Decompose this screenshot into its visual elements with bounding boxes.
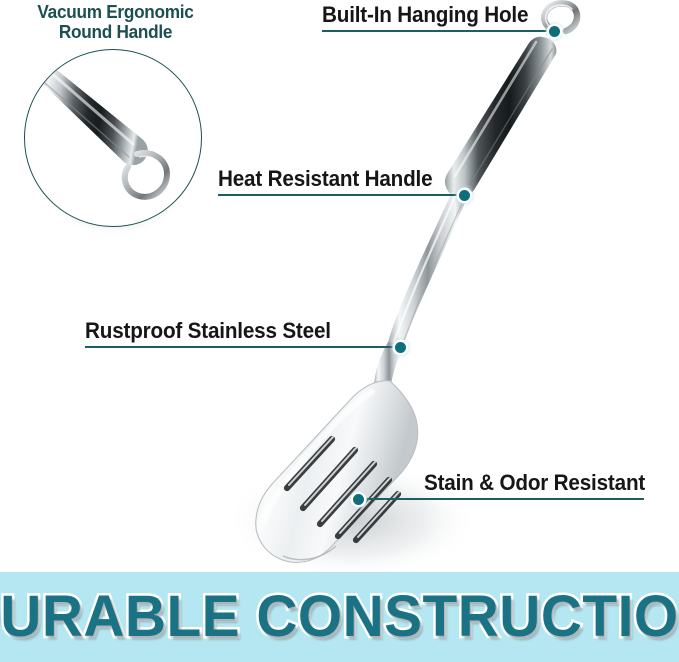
callout-heat-resistant-handle-dot <box>459 190 470 201</box>
inset-circle <box>24 49 202 227</box>
callout-rustproof-stainless-steel: Rustproof Stainless Steel <box>85 318 400 348</box>
callout-hanging-hole: Built-In Hanging Hole <box>322 2 554 32</box>
inset-callout-block: Vacuum Ergonomic Round Handle <box>8 2 223 237</box>
inset-circle-wrapper <box>24 49 202 227</box>
callout-stain-odor-resistant-label: Stain & Odor Resistant <box>424 470 645 496</box>
callout-stain-odor-resistant-dot <box>353 494 364 505</box>
banner-headline: DURABLE CONSTRUCTION <box>0 587 679 647</box>
handle-closeup-icon <box>25 50 201 226</box>
callout-stain-odor-resistant: Stain & Odor Resistant <box>358 470 659 500</box>
callout-hanging-hole-dot <box>549 26 560 37</box>
callout-rustproof-stainless-steel-rule <box>85 346 400 348</box>
callout-heat-resistant-handle-rule <box>218 194 464 196</box>
callout-rustproof-stainless-steel-label: Rustproof Stainless Steel <box>85 318 381 344</box>
callout-rustproof-stainless-steel-dot <box>395 342 406 353</box>
neck-shaft <box>372 192 468 410</box>
product-infographic: Vacuum Ergonomic Round Handle <box>0 0 679 662</box>
inset-title: Vacuum Ergonomic Round Handle <box>16 2 216 42</box>
callout-heat-resistant-handle-label: Heat Resistant Handle <box>218 166 449 192</box>
callout-hanging-hole-label: Built-In Hanging Hole <box>322 2 540 28</box>
bottom-banner: DURABLE CONSTRUCTION <box>0 572 679 662</box>
callout-heat-resistant-handle: Heat Resistant Handle <box>218 166 464 196</box>
callout-hanging-hole-rule <box>322 30 554 32</box>
callout-stain-odor-resistant-rule <box>358 498 644 500</box>
